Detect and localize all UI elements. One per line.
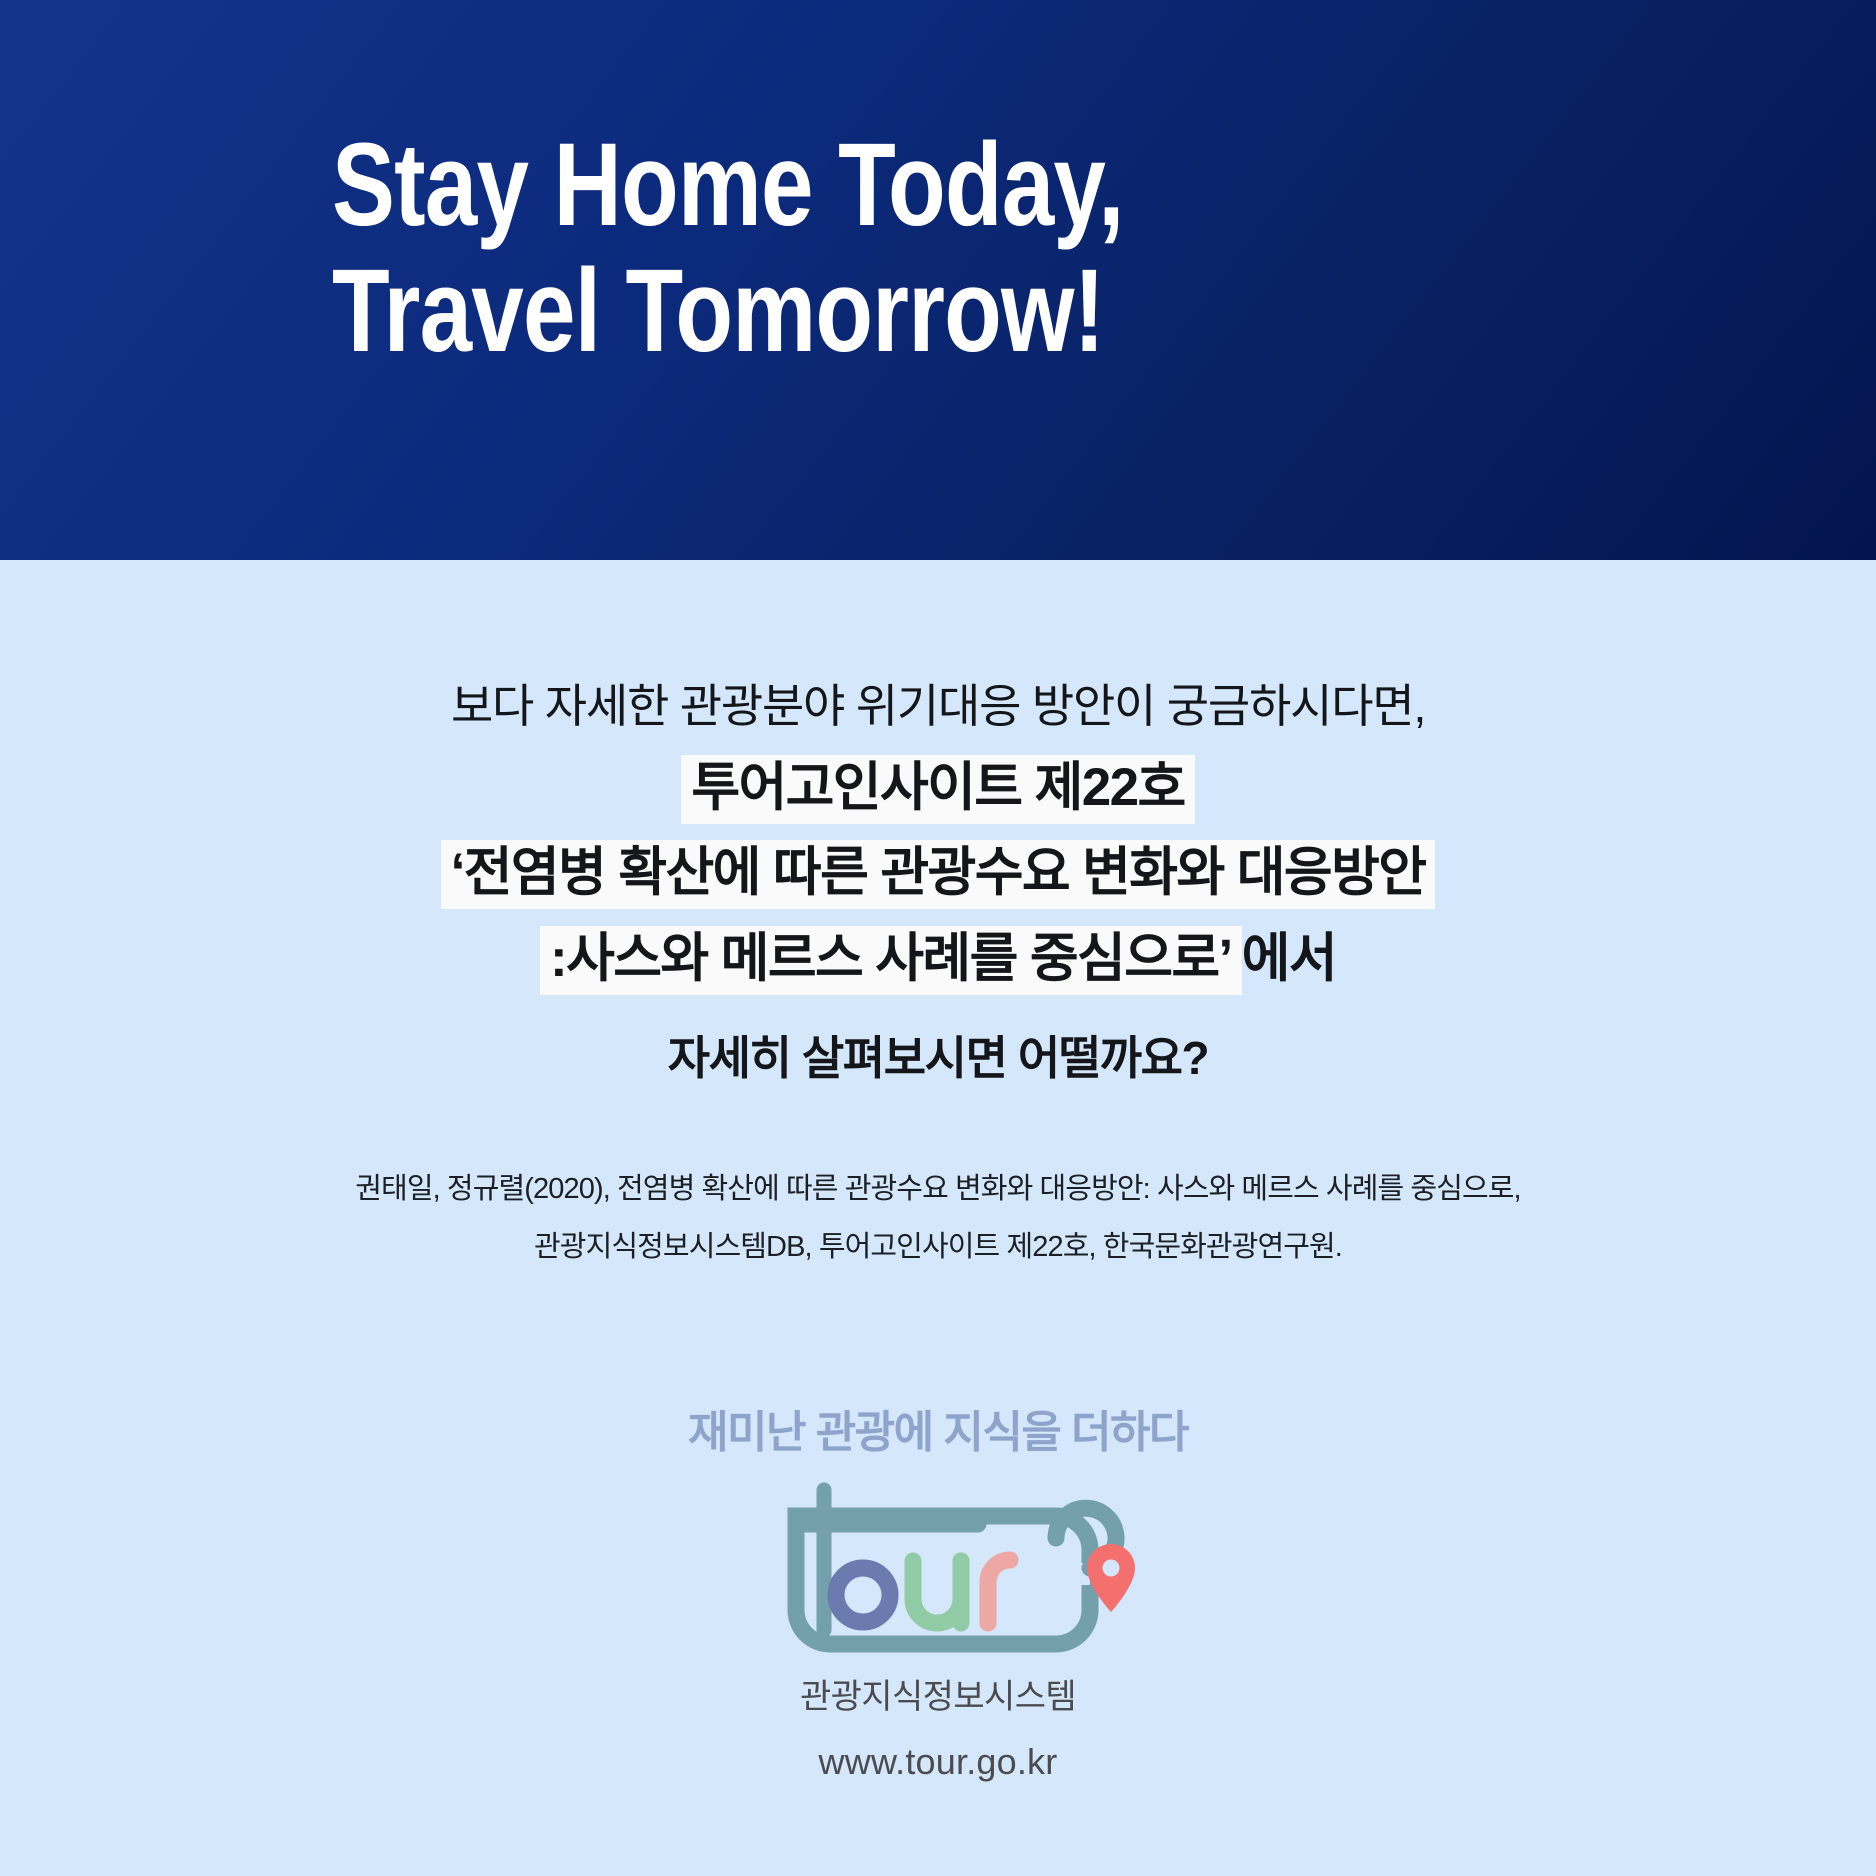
citation-line-2: 관광지식정보시스템DB, 투어고인사이트 제22호, 한국문화관광연구원. [0, 1218, 1876, 1276]
logo-letter-o [836, 1568, 890, 1622]
citation-line-1: 권태일, 정규렬(2020), 전염병 확산에 따른 관광수요 변화와 대응방안… [0, 1160, 1876, 1218]
highlight-report-subtitle: :사스와 메르스 사례를 중심으로’ [540, 926, 1242, 995]
title-line-1: Stay Home Today, [332, 122, 1501, 248]
brand-tagline: 재미난 관광에 지식을 더하다 [0, 1396, 1876, 1460]
message-block: 보다 자세한 관광분야 위기대응 방안이 궁금하시다면, 투어고인사이트 제22… [0, 560, 1876, 1094]
footer-block: 관광지식정보시스템 www.tour.go.kr [0, 1676, 1876, 1784]
highlight-report-title: ‘전염병 확산에 따른 관광수요 변화와 대응방안 [441, 840, 1436, 909]
title-line-2: Travel Tomorrow! [332, 248, 1501, 374]
message-line-3: ‘전염병 확산에 따른 관광수요 변화와 대응방안 [0, 833, 1876, 913]
system-name: 관광지식정보시스템 [0, 1676, 1876, 1719]
body-section: 보다 자세한 관광분야 위기대응 방안이 궁금하시다면, 투어고인사이트 제22… [0, 560, 1876, 1876]
highlight-issue-number: 투어고인사이트 제22호 [681, 755, 1194, 824]
website-url[interactable]: www.tour.go.kr [0, 1739, 1876, 1784]
logo-letter-r [988, 1560, 1010, 1623]
message-line-4-suffix: 에서 [1242, 929, 1336, 988]
page-title: Stay Home Today, Travel Tomorrow! [0, 122, 1501, 375]
citation-block: 권태일, 정규렬(2020), 전염병 확산에 따른 관광수요 변화와 대응방안… [0, 1160, 1876, 1276]
tourgo-logo-icon [738, 1482, 1138, 1660]
brand-logo [0, 1482, 1876, 1660]
message-line-1: 보다 자세한 관광분야 위기대응 방안이 궁금하시다면, [0, 672, 1876, 742]
map-pin-hole [1103, 1560, 1120, 1577]
header-banner: Stay Home Today, Travel Tomorrow! [0, 0, 1876, 560]
message-line-2: 투어고인사이트 제22호 [0, 748, 1876, 828]
poster-card: Stay Home Today, Travel Tomorrow! 보다 자세한… [0, 0, 1876, 1876]
message-line-4: :사스와 메르스 사례를 중심으로’에서 [0, 919, 1876, 999]
message-line-5: 자세히 살펴보시면 어떨까요? [0, 1024, 1876, 1094]
